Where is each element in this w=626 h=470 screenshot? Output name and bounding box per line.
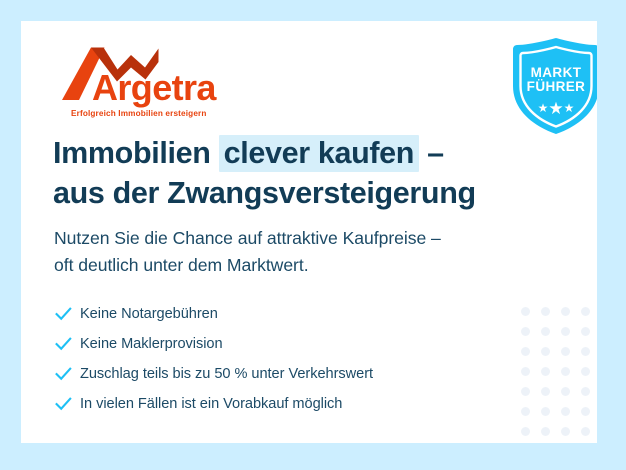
headline-line-2: aus der Zwangsversteigerung [53,174,533,214]
dot [521,427,530,436]
benefit-label: Keine Maklerprovision [80,336,223,352]
benefit-label: Keine Notargebühren [80,306,218,322]
benefit-item: In vielen Fällen ist ein Vorabkauf mögli… [54,389,534,419]
logo-tagline: Erfolgreich Immobilien ersteigern [71,109,207,118]
headline-prefix: Immobilien [53,136,219,170]
benefit-item: Keine Maklerprovision [54,329,534,359]
headline-line-1: Immobilien clever kaufen – [53,134,533,174]
dot [541,307,550,316]
headline-highlight: clever kaufen [219,135,419,172]
benefit-label: Zuschlag teils bis zu 50 % unter Verkehr… [80,366,373,382]
check-icon [54,307,80,321]
dot [541,367,550,376]
dot [561,367,570,376]
dot [541,327,550,336]
check-icon [54,397,80,411]
benefit-label: In vielen Fällen ist ein Vorabkauf mögli… [80,396,342,412]
dot [581,367,590,376]
dot [541,387,550,396]
dot [561,347,570,356]
dot [541,407,550,416]
dot [561,427,570,436]
headline-suffix: – [419,136,444,170]
dot [581,407,590,416]
dot [581,327,590,336]
check-icon [54,337,80,351]
dot [581,427,590,436]
dot [541,427,550,436]
promo-banner: Argetra Erfolgreich Immobilien ersteiger… [0,0,626,470]
market-leader-badge: MARKT FÜHRER ★★★ [509,36,597,136]
dot [581,387,590,396]
dot [561,407,570,416]
dot [561,327,570,336]
subheadline: Nutzen Sie die Chance auf attraktive Kau… [54,225,544,278]
headline: Immobilien clever kaufen – aus der Zwang… [53,134,533,214]
dot [561,307,570,316]
dot [541,347,550,356]
dot [581,307,590,316]
logo-wordmark: Argetra [92,70,216,106]
dot [581,347,590,356]
dot [561,387,570,396]
check-icon [54,367,80,381]
banner-card: Argetra Erfolgreich Immobilien ersteiger… [21,21,597,443]
benefit-item: Zuschlag teils bis zu 50 % unter Verkehr… [54,359,534,389]
shield-badge-icon [509,36,597,136]
subheadline-line-1: Nutzen Sie die Chance auf attraktive Kau… [54,225,544,252]
benefit-item: Keine Notargebühren [54,299,534,329]
benefit-list: Keine NotargebührenKeine Maklerprovision… [54,299,534,419]
argetra-logo[interactable]: Argetra Erfolgreich Immobilien ersteiger… [57,43,217,123]
subheadline-line-2: oft deutlich unter dem Marktwert. [54,252,544,279]
